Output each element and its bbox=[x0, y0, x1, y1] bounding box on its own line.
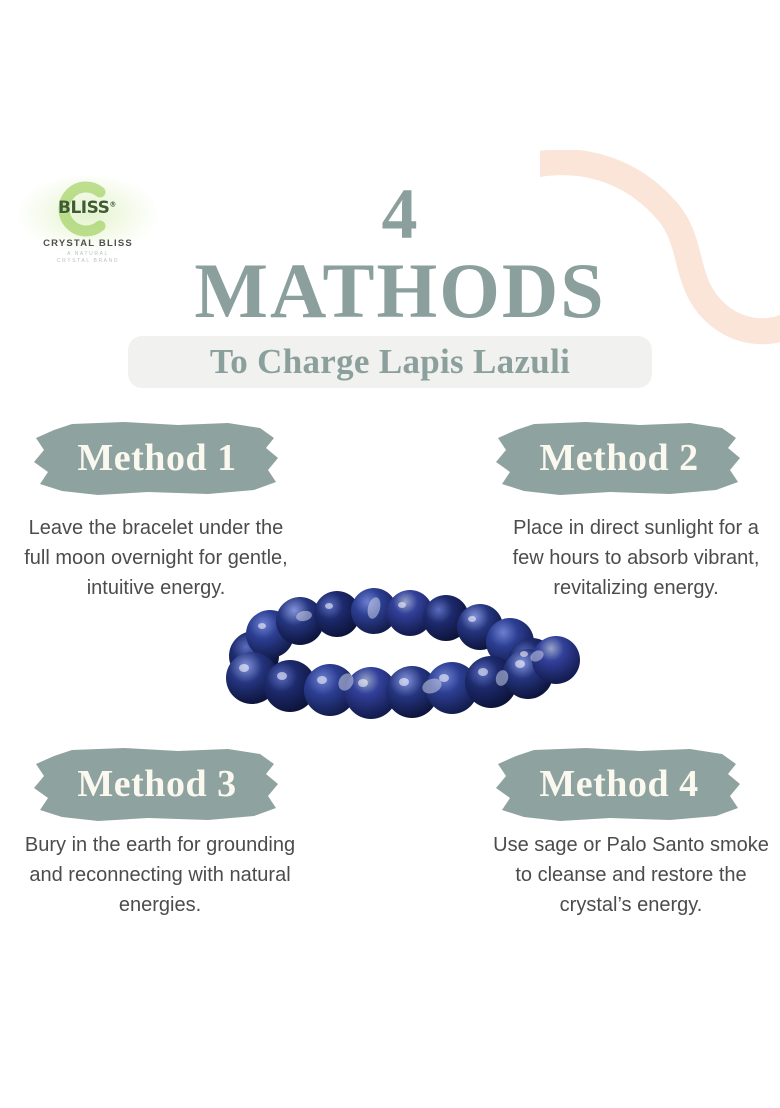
method-badge-3-label: Method 3 bbox=[28, 760, 286, 808]
page-title: 4 MATHODS bbox=[120, 178, 680, 332]
method-description-3: Bury in the earth for grounding and reco… bbox=[14, 830, 306, 920]
method-badge-1: Method 1 bbox=[28, 418, 286, 498]
method-badge-4-label: Method 4 bbox=[490, 760, 748, 808]
logo-tagline-line1: A NATURAL bbox=[67, 251, 109, 257]
headline-word: MATHODS bbox=[120, 250, 680, 332]
page-subtitle: To Charge Lapis Lazuli bbox=[128, 339, 652, 385]
method-description-4: Use sage or Palo Santo smoke to cleanse … bbox=[492, 830, 770, 920]
bracelet-product-image bbox=[196, 582, 584, 734]
headline-number: 4 bbox=[120, 178, 680, 250]
infographic-poster: BLISS® CRYSTAL BLISS A NATURAL CRYSTAL B… bbox=[0, 0, 780, 1108]
method-badge-2-label: Method 2 bbox=[490, 434, 748, 482]
logo-word-text: BLISS bbox=[58, 198, 109, 218]
registered-icon: ® bbox=[109, 200, 116, 208]
method-badge-3: Method 3 bbox=[28, 744, 286, 824]
method-badge-4: Method 4 bbox=[490, 744, 748, 824]
method-badge-2: Method 2 bbox=[490, 418, 748, 498]
logo-tagline-line2: CRYSTAL BRAND bbox=[57, 258, 119, 264]
method-badge-1-label: Method 1 bbox=[28, 434, 286, 482]
logo-wordmark: BLISS® bbox=[58, 198, 116, 218]
